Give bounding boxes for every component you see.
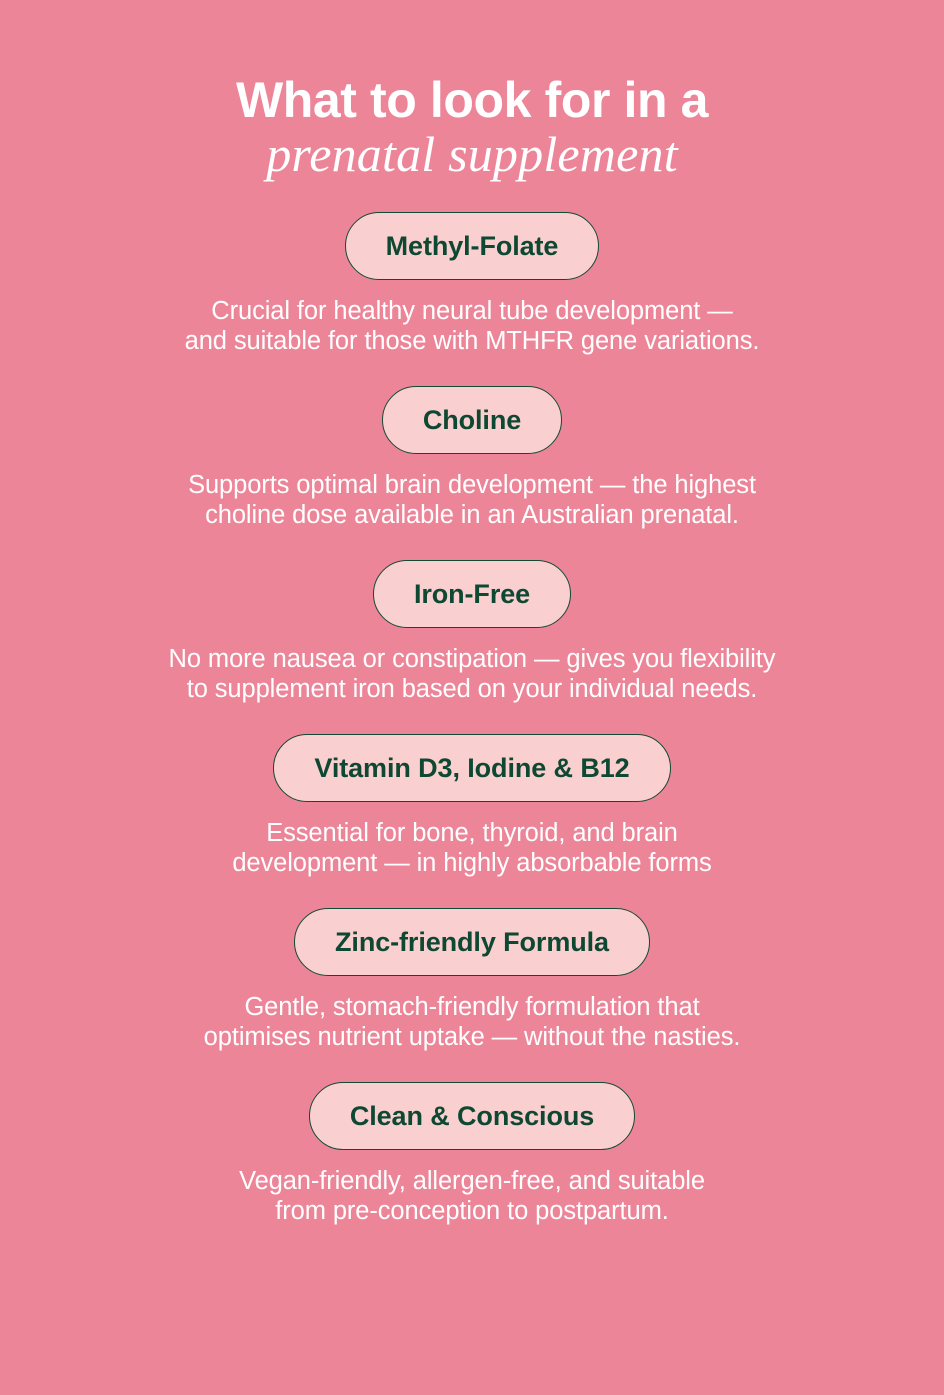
- feature-item-choline: Choline Supports optimal brain developme…: [0, 386, 944, 530]
- feature-pill-zinc-friendly-formula[interactable]: Zinc-friendly Formula: [294, 908, 650, 976]
- feature-description-vitamin-d3-iodine-b12: Essential for bone, thyroid, and brain d…: [232, 818, 711, 878]
- feature-pill-clean-conscious[interactable]: Clean & Conscious: [309, 1082, 635, 1150]
- feature-pill-vitamin-d3-iodine-b12[interactable]: Vitamin D3, Iodine & B12: [273, 734, 670, 802]
- page-title-line-1: What to look for in a: [0, 72, 944, 128]
- feature-pill-iron-free[interactable]: Iron-Free: [373, 560, 571, 628]
- page-title-line-2: prenatal supplement: [0, 126, 944, 182]
- feature-description-zinc-friendly-formula: Gentle, stomach-friendly formulation tha…: [204, 992, 741, 1052]
- feature-description-clean-conscious: Vegan-friendly, allergen-free, and suita…: [239, 1166, 705, 1226]
- feature-pill-methyl-folate[interactable]: Methyl-Folate: [345, 212, 600, 280]
- prenatal-supplement-infographic: What to look for in a prenatal supplemen…: [0, 0, 944, 1395]
- feature-description-choline: Supports optimal brain development — the…: [188, 470, 756, 530]
- feature-list: Methyl-Folate Crucial for healthy neural…: [0, 212, 944, 1226]
- feature-item-clean-conscious: Clean & Conscious Vegan-friendly, allerg…: [0, 1082, 944, 1226]
- feature-description-methyl-folate: Crucial for healthy neural tube developm…: [185, 296, 760, 356]
- feature-description-iron-free: No more nausea or constipation — gives y…: [169, 644, 776, 704]
- feature-item-iron-free: Iron-Free No more nausea or constipation…: [0, 560, 944, 704]
- feature-item-vitamin-d3-iodine-b12: Vitamin D3, Iodine & B12 Essential for b…: [0, 734, 944, 878]
- feature-item-methyl-folate: Methyl-Folate Crucial for healthy neural…: [0, 212, 944, 356]
- feature-pill-choline[interactable]: Choline: [382, 386, 562, 454]
- page-title: What to look for in a prenatal supplemen…: [0, 0, 944, 182]
- feature-item-zinc-friendly-formula: Zinc-friendly Formula Gentle, stomach-fr…: [0, 908, 944, 1052]
